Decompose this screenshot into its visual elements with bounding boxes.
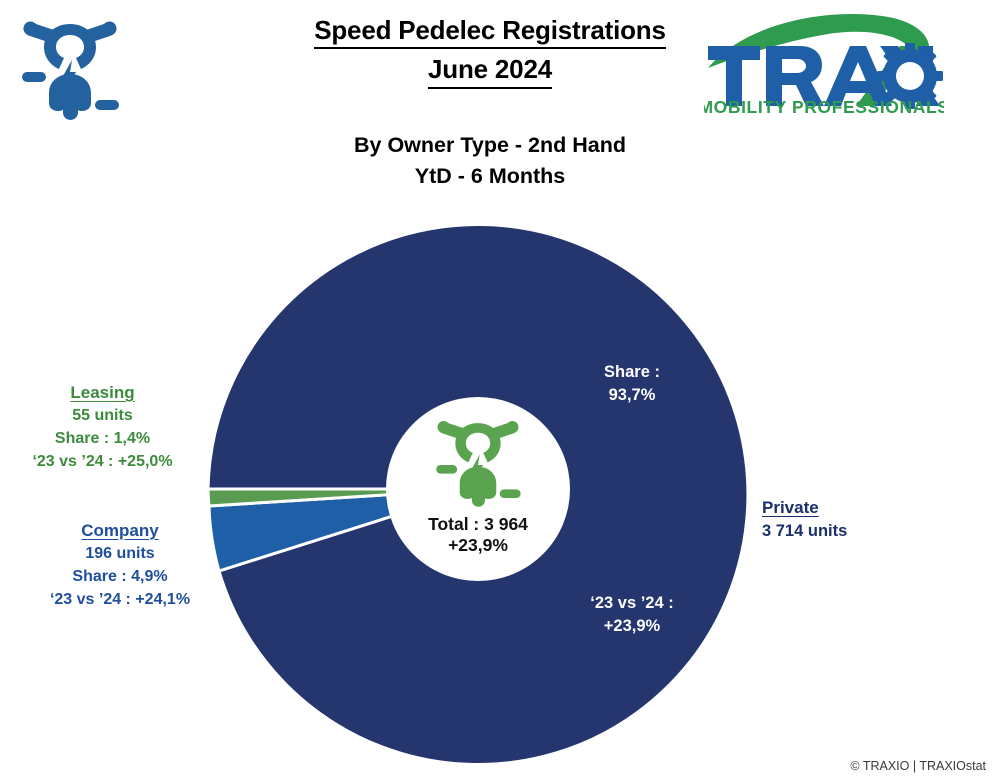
speed-pedelec-icon [431, 404, 525, 512]
callout-company-units: 196 units [5, 543, 235, 566]
callout-leasing-units: 55 units [0, 405, 205, 428]
footer-copyright: © TRAXIO | TRAXIOstat [850, 759, 986, 773]
share-value: 93,7% [562, 384, 702, 407]
callout-private-units: 3 714 units [762, 520, 982, 543]
callout-leasing-share: Share : 1,4% [0, 428, 205, 451]
callout-company: Company 196 units Share : 4,9% ‘23 vs ’2… [5, 519, 235, 611]
total-value: Total : 3 964 [386, 514, 570, 535]
donut-center-content: Total : 3 964 +23,9% [386, 400, 570, 557]
total-growth: +23,9% [386, 535, 570, 556]
callout-leasing-title: Leasing [0, 381, 205, 405]
callout-private-title: Private [762, 496, 982, 520]
callout-private-share: Share : 93,7% [562, 361, 702, 408]
callout-company-share: Share : 4,9% [5, 566, 235, 589]
callout-company-title: Company [5, 519, 235, 543]
callout-leasing-growth: ‘23 vs ’24 : +25,0% [0, 451, 205, 474]
infographic-page: Speed Pedelec Registrations June 2024 [0, 0, 1000, 781]
callout-private: Private 3 714 units [762, 496, 982, 544]
callout-private-growth: ‘23 vs ’24 : +23,9% [552, 592, 712, 639]
share-label: Share : [562, 361, 702, 384]
callout-company-growth: ‘23 vs ’24 : +24,1% [5, 589, 235, 612]
callout-leasing: Leasing 55 units Share : 1,4% ‘23 vs ’24… [0, 381, 205, 473]
growth-value: +23,9% [552, 615, 712, 638]
growth-label: ‘23 vs ’24 : [552, 592, 712, 615]
